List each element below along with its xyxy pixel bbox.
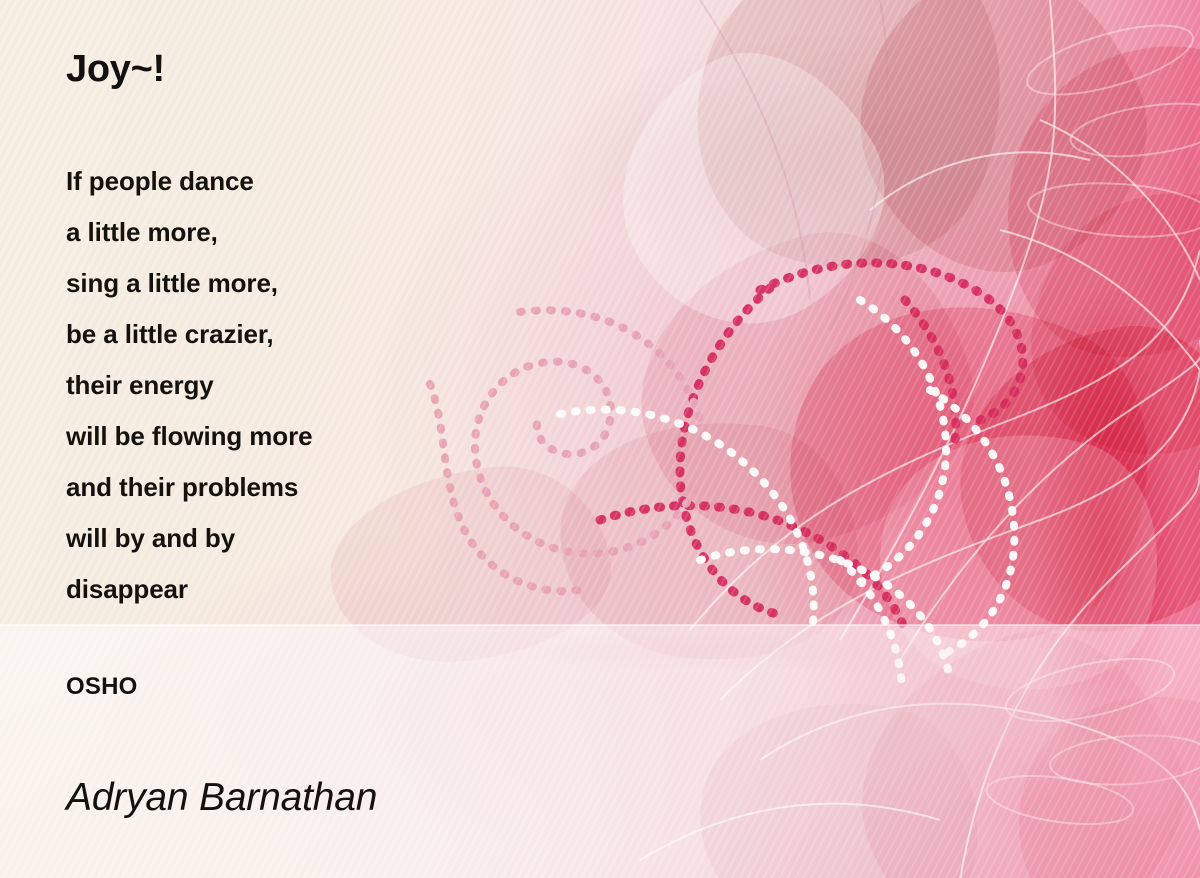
poem-line: sing a little more, [66, 258, 312, 309]
poem-line: will by and by [66, 513, 312, 564]
poem-line: their energy [66, 360, 312, 411]
poem-line: and their problems [66, 462, 312, 513]
page-title: Joy~! [66, 50, 165, 88]
poem-signature: Adryan Barnathan [66, 776, 377, 820]
background-lower-band [0, 625, 1200, 878]
poem-line: will be flowing more [66, 411, 312, 462]
poem-body: If people dance a little more, sing a li… [66, 156, 312, 615]
background-seam-line [0, 624, 1200, 626]
poem-line: disappear [66, 564, 312, 615]
poem-card: Joy~! If people dance a little more, sin… [0, 0, 1200, 878]
poem-attribution: OSHO [66, 673, 137, 701]
poem-line: If people dance [66, 156, 312, 207]
poem-line: be a little crazier, [66, 309, 312, 360]
poem-line: a little more, [66, 207, 312, 258]
